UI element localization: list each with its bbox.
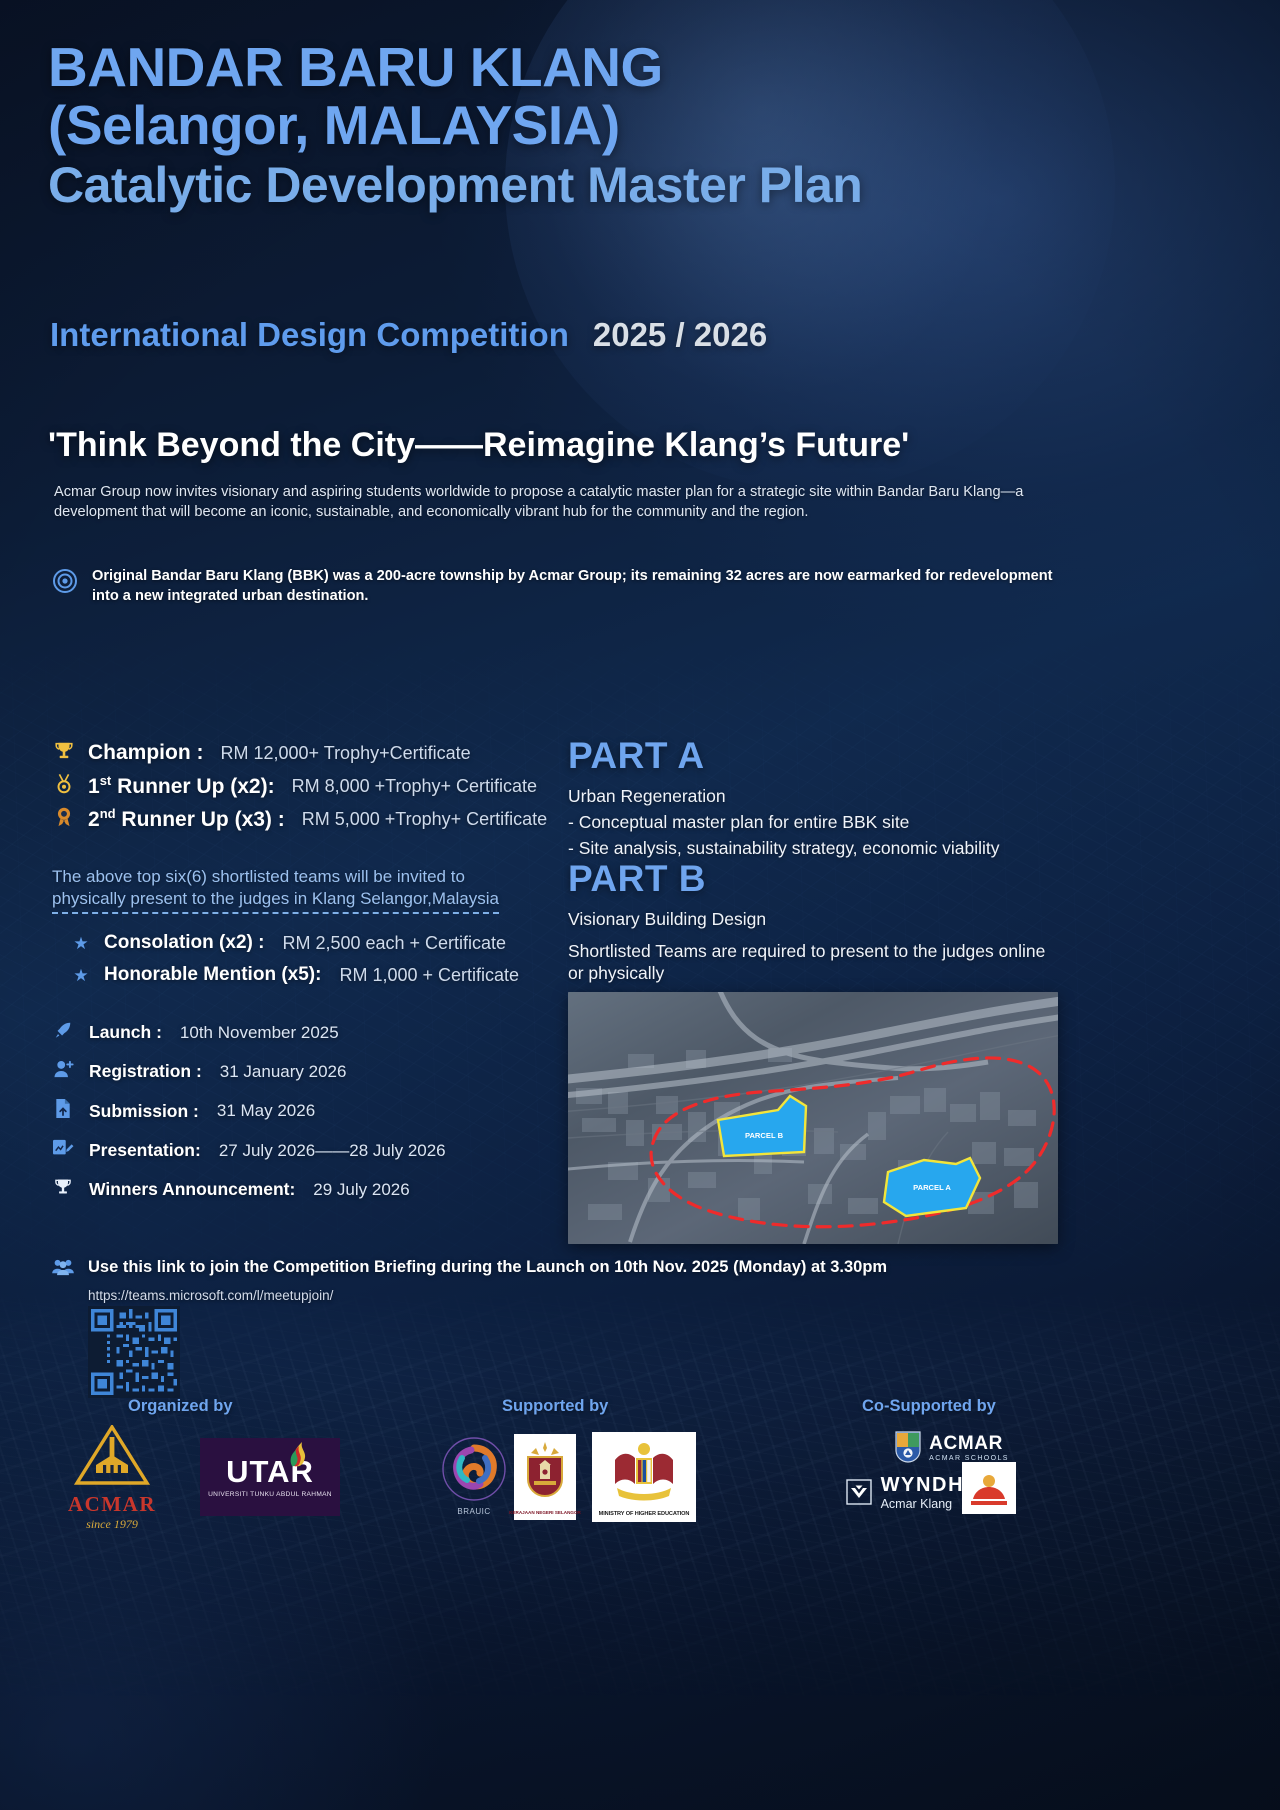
part-a-section: PART A Urban Regeneration - Conceptual m… [568, 735, 1063, 860]
subtitle: International Design Competition 2025 / … [50, 316, 767, 354]
acmar-since-text: since 1979 [68, 1517, 156, 1532]
subtitle-text: International Design Competition [50, 316, 569, 354]
prize-value: RM 12,000+ Trophy+Certificate [221, 743, 471, 764]
organized-by-label: Organized by [128, 1397, 233, 1416]
tagline: 'Think Beyond the City——Reimagine Klang’… [48, 426, 1108, 465]
timeline-row-presentation: Presentation: 27 July 2026——28 July 2026 [52, 1138, 572, 1163]
rosette-icon [52, 806, 76, 832]
logo-partner-mark [962, 1462, 1016, 1514]
timeline-label: Launch : [89, 1022, 162, 1043]
timeline-value: 31 January 2026 [220, 1062, 347, 1082]
prize-row-consolation: ★ Consolation (x2) : RM 2,500 each + Cer… [72, 932, 592, 954]
prize-value: RM 8,000 +Trophy+ Certificate [292, 776, 537, 797]
star-icon: ★ [72, 935, 90, 952]
logo-acmar: ACMAR since 1979 [52, 1424, 172, 1532]
prize-value: RM 2,500 each + Certificate [282, 933, 506, 954]
logo-selangor: KERAJAAN NEGERI SELANGOR [514, 1434, 576, 1520]
co-supported-by-label: Co-Supported by [862, 1397, 996, 1416]
mohe-wordmark: MINISTRY OF HIGHER EDUCATION [599, 1511, 690, 1517]
part-b-subtitle: Visionary Building Design [568, 909, 1063, 930]
site-map-image: PARCEL B PARCEL A [568, 992, 1058, 1244]
prize-label: Consolation (x2) : [104, 932, 264, 954]
shortlist-note: The above top six(6) shortlisted teams w… [52, 866, 572, 914]
acmar-schools-wordmark: ACMAR [929, 1433, 1009, 1455]
medal-icon [52, 773, 76, 799]
upload-file-icon [52, 1098, 74, 1124]
acmar-schools-subtitle: ACMAR SCHOOLS [929, 1455, 1009, 1462]
brauic-wordmark: BRAUIC [441, 1507, 507, 1516]
prize-row-second-runner-up: 2nd Runner Up (x3) : RM 5,000 +Trophy+ C… [52, 806, 572, 832]
qr-code[interactable] [88, 1306, 180, 1398]
user-add-icon [52, 1059, 74, 1084]
timeline-value: 31 May 2026 [217, 1101, 315, 1121]
timeline-row-registration: Registration : 31 January 2026 [52, 1059, 572, 1084]
timeline-value: 27 July 2026——28 July 2026 [219, 1141, 446, 1161]
prize-row-first-runner-up: 1st Runner Up (x2): RM 8,000 +Trophy+ Ce… [52, 773, 572, 799]
title-line-1: BANDAR BARU KLANG [48, 38, 1108, 96]
part-b-note: Shortlisted Teams are required to presen… [568, 941, 1063, 984]
timeline-label: Presentation: [89, 1140, 201, 1161]
partner-sun-icon [967, 1467, 1011, 1509]
logo-utar: UTAR UNIVERSITI TUNKU ABDUL RAHMAN [200, 1438, 340, 1516]
subtitle-years: 2025 / 2026 [593, 316, 767, 354]
acmar-schools-shield-icon [895, 1431, 921, 1463]
secondary-prize-list: ★ Consolation (x2) : RM 2,500 each + Cer… [72, 932, 592, 996]
prize-value: RM 5,000 +Trophy+ Certificate [302, 809, 547, 830]
callout-text: Original Bandar Baru Klang (BBK) was a 2… [92, 566, 1062, 606]
utar-flame-icon [278, 1441, 312, 1467]
trophy-icon [52, 1177, 74, 1202]
callout: Original Bandar Baru Klang (BBK) was a 2… [52, 566, 1062, 606]
prize-label: 2nd Runner Up (x3) : [88, 806, 285, 832]
mohe-crest-icon [607, 1438, 681, 1506]
logo-ministry-of-higher-education: MINISTRY OF HIGHER EDUCATION [592, 1432, 696, 1522]
prize-label: Champion : [88, 741, 204, 765]
timeline-label: Registration : [89, 1061, 202, 1082]
timeline-label: Winners Announcement: [89, 1179, 295, 1200]
timeline-value: 29 July 2026 [313, 1180, 409, 1200]
rocket-icon [52, 1020, 74, 1045]
timeline-list: Launch : 10th November 2025 Registration… [52, 1020, 572, 1216]
part-a-bullet: - Site analysis, sustainability strategy… [568, 837, 1063, 859]
timeline-value: 10th November 2025 [180, 1023, 339, 1043]
shortlist-line-1: The above top six(6) shortlisted teams w… [52, 866, 572, 888]
acmar-mark-icon [73, 1425, 151, 1487]
selangor-wordmark: KERAJAAN NEGERI SELANGOR [509, 1510, 581, 1515]
selangor-crest-icon [520, 1439, 570, 1505]
shortlist-line-2: physically present to the judges in Klan… [52, 888, 499, 914]
utar-subtitle: UNIVERSITI TUNKU ABDUL RAHMAN [208, 1491, 332, 1498]
briefing-title: Use this link to join the Competition Br… [88, 1258, 887, 1277]
logo-brauic: BRAUIC [430, 1432, 518, 1520]
timeline-row-winners: Winners Announcement: 29 July 2026 [52, 1177, 572, 1202]
part-a-bullet: - Conceptual master plan for entire BBK … [568, 811, 1063, 833]
part-b-title: PART B [568, 858, 1063, 900]
target-icon [52, 568, 78, 599]
parcel-a-label: PARCEL A [913, 1183, 951, 1192]
star-icon: ★ [72, 967, 90, 984]
poster-root: BANDAR BARU KLANG (Selangor, MALAYSIA) C… [0, 0, 1280, 1810]
prize-row-honorable-mention: ★ Honorable Mention (x5): RM 1,000 + Cer… [72, 964, 592, 986]
prize-label: Honorable Mention (x5): [104, 964, 321, 986]
intro-paragraph: Acmar Group now invites visionary and as… [54, 482, 1064, 523]
part-a-subtitle: Urban Regeneration [568, 786, 1063, 807]
presentation-icon [52, 1138, 74, 1163]
briefing-link[interactable]: https://teams.microsoft.com/l/meetupjoin… [88, 1288, 1062, 1303]
prize-label: 1st Runner Up (x2): [88, 773, 275, 799]
briefing-section: Use this link to join the Competition Br… [52, 1258, 1062, 1303]
timeline-row-submission: Submission : 31 May 2026 [52, 1098, 572, 1124]
logo-acmar-schools: ACMAR ACMAR SCHOOLS [872, 1430, 1032, 1464]
part-a-title: PART A [568, 735, 1063, 777]
acmar-wordmark: ACMAR [68, 1492, 156, 1517]
title-line-3: Catalytic Development Master Plan [48, 159, 1108, 212]
prize-row-champion: Champion : RM 12,000+ Trophy+Certificate [52, 740, 572, 766]
timeline-label: Submission : [89, 1101, 199, 1122]
prize-value: RM 1,000 + Certificate [339, 965, 519, 986]
title-line-2: (Selangor, MALAYSIA) [48, 96, 1108, 154]
parcel-b-label: PARCEL B [745, 1131, 784, 1140]
trophy-icon [52, 740, 76, 766]
supported-by-label: Supported by [502, 1397, 608, 1416]
timeline-row-launch: Launch : 10th November 2025 [52, 1020, 572, 1045]
page-title: BANDAR BARU KLANG (Selangor, MALAYSIA) C… [48, 38, 1108, 212]
brauic-mark-icon [441, 1436, 507, 1502]
wyndham-mark-icon [846, 1479, 872, 1505]
people-icon [52, 1258, 74, 1281]
utar-wordmark: UTAR [208, 1456, 332, 1487]
prize-list: Champion : RM 12,000+ Trophy+Certificate… [52, 740, 572, 839]
